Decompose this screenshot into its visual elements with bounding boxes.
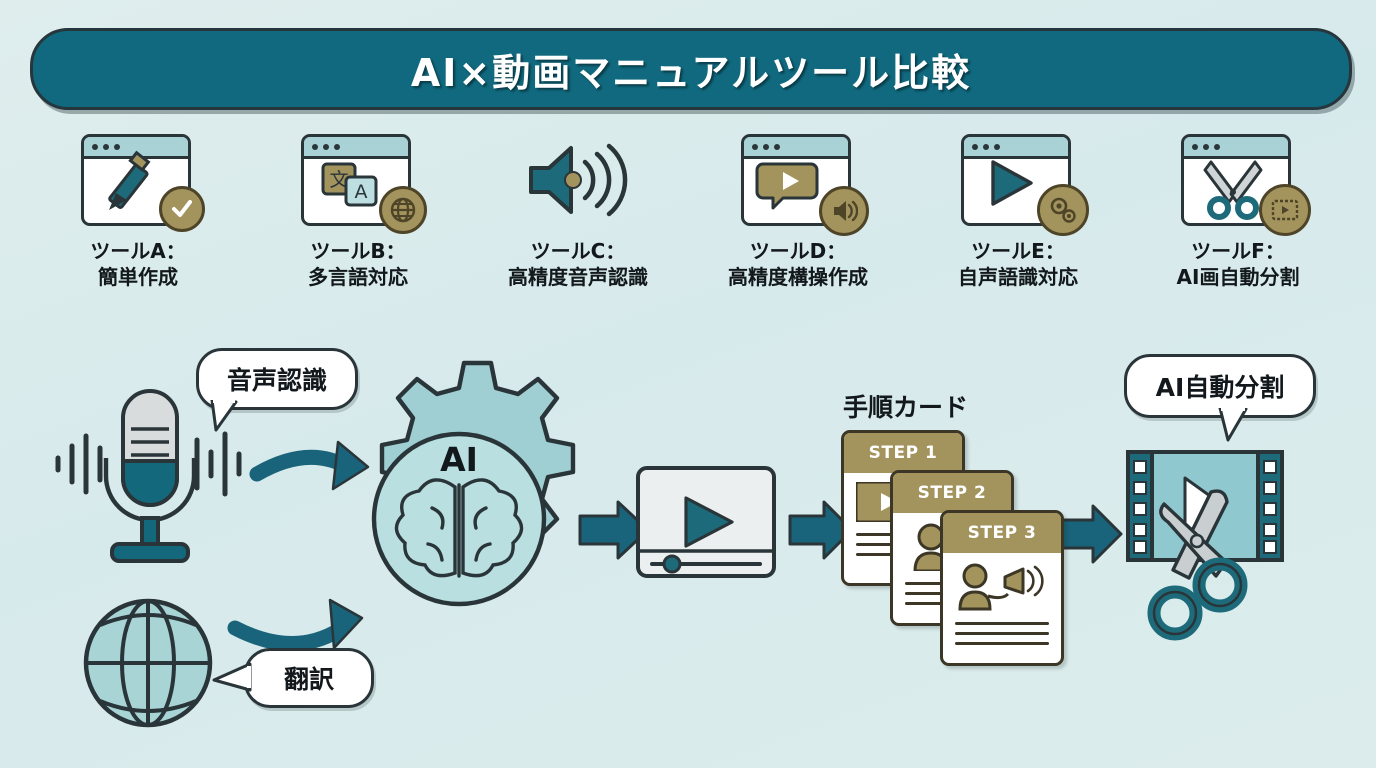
- card-text-line: [955, 622, 1049, 625]
- tool-label-a: ツールA： 簡単作成: [90, 238, 185, 291]
- speaker-badge-icon: [819, 186, 869, 236]
- globe-badge-icon: [379, 186, 427, 234]
- card-text-line: [955, 632, 1049, 635]
- tool-label-f: ツールF： AI画自動分割: [1177, 238, 1300, 291]
- tool-comparison-row: ツールA： 簡単作成 文 A: [40, 132, 1336, 322]
- video-badge-icon: [1259, 184, 1311, 236]
- window-scissors-video-icon: [1173, 132, 1303, 228]
- step-card-3[interactable]: STEP 3: [940, 510, 1064, 666]
- tool-item-d[interactable]: ツールD： 高精度構操作成: [700, 132, 896, 322]
- check-badge-icon: [159, 186, 205, 232]
- page-title: AI×動画マニュアルツール比較: [411, 42, 971, 97]
- gear-brain-icon: [374, 363, 573, 604]
- arrow-cards-to-output: [1059, 506, 1121, 562]
- tool-item-a[interactable]: ツールA： 簡単作成: [40, 132, 236, 322]
- tool-item-c[interactable]: ツールC： 高精度音声認識: [480, 132, 676, 322]
- tool-label-e: ツールE： 自声語識対応: [958, 238, 1078, 291]
- video-player-icon: [638, 468, 774, 576]
- card-text-line: [955, 642, 1049, 645]
- tool-label-d: ツールD： 高精度構操作成: [728, 238, 868, 291]
- tool-item-e[interactable]: ツールE： 自声語識対応: [920, 132, 1116, 322]
- bubble-tail-voice: [206, 400, 246, 432]
- filmstrip-scissors-icon: [1128, 452, 1282, 634]
- globe-icon: [86, 601, 210, 725]
- gears-badge-icon: [1037, 184, 1089, 236]
- curved-arrow-translate: [235, 600, 362, 648]
- infographic-canvas: AI×動画マニュアルツール比較 ツールA： 簡単作: [0, 0, 1376, 768]
- window-pencil-check-icon: [73, 132, 203, 228]
- speaker-waves-icon: [513, 132, 643, 228]
- curved-arrow-voice: [257, 442, 368, 489]
- step-cards-caption: 手順カード: [843, 388, 968, 424]
- window-play-bubble-speaker-icon: [733, 132, 863, 228]
- person-megaphone-icon: [955, 563, 1061, 615]
- speech-bubble-translation: 翻訳: [244, 648, 374, 708]
- tool-item-b[interactable]: 文 A ツールB： 多言語対応: [260, 132, 456, 322]
- bubble-tail-translate: [206, 660, 254, 696]
- ai-engine-label: AI: [424, 440, 494, 479]
- tool-item-f[interactable]: ツールF： AI画自動分割: [1140, 132, 1336, 322]
- window-translate-globe-icon: 文 A: [293, 132, 423, 228]
- svg-text:A: A: [355, 181, 368, 203]
- title-banner: AI×動画マニュアルツール比較: [30, 28, 1352, 110]
- window-play-gears-icon: [953, 132, 1083, 228]
- tool-label-c: ツールC： 高精度音声認識: [508, 238, 648, 291]
- process-flow-diagram: 音声認識 翻訳 AI 手順カード STEP 1 STE: [0, 330, 1376, 768]
- tool-label-b: ツールB： 多言語対応: [308, 238, 408, 291]
- bubble-tail-output: [1216, 408, 1260, 442]
